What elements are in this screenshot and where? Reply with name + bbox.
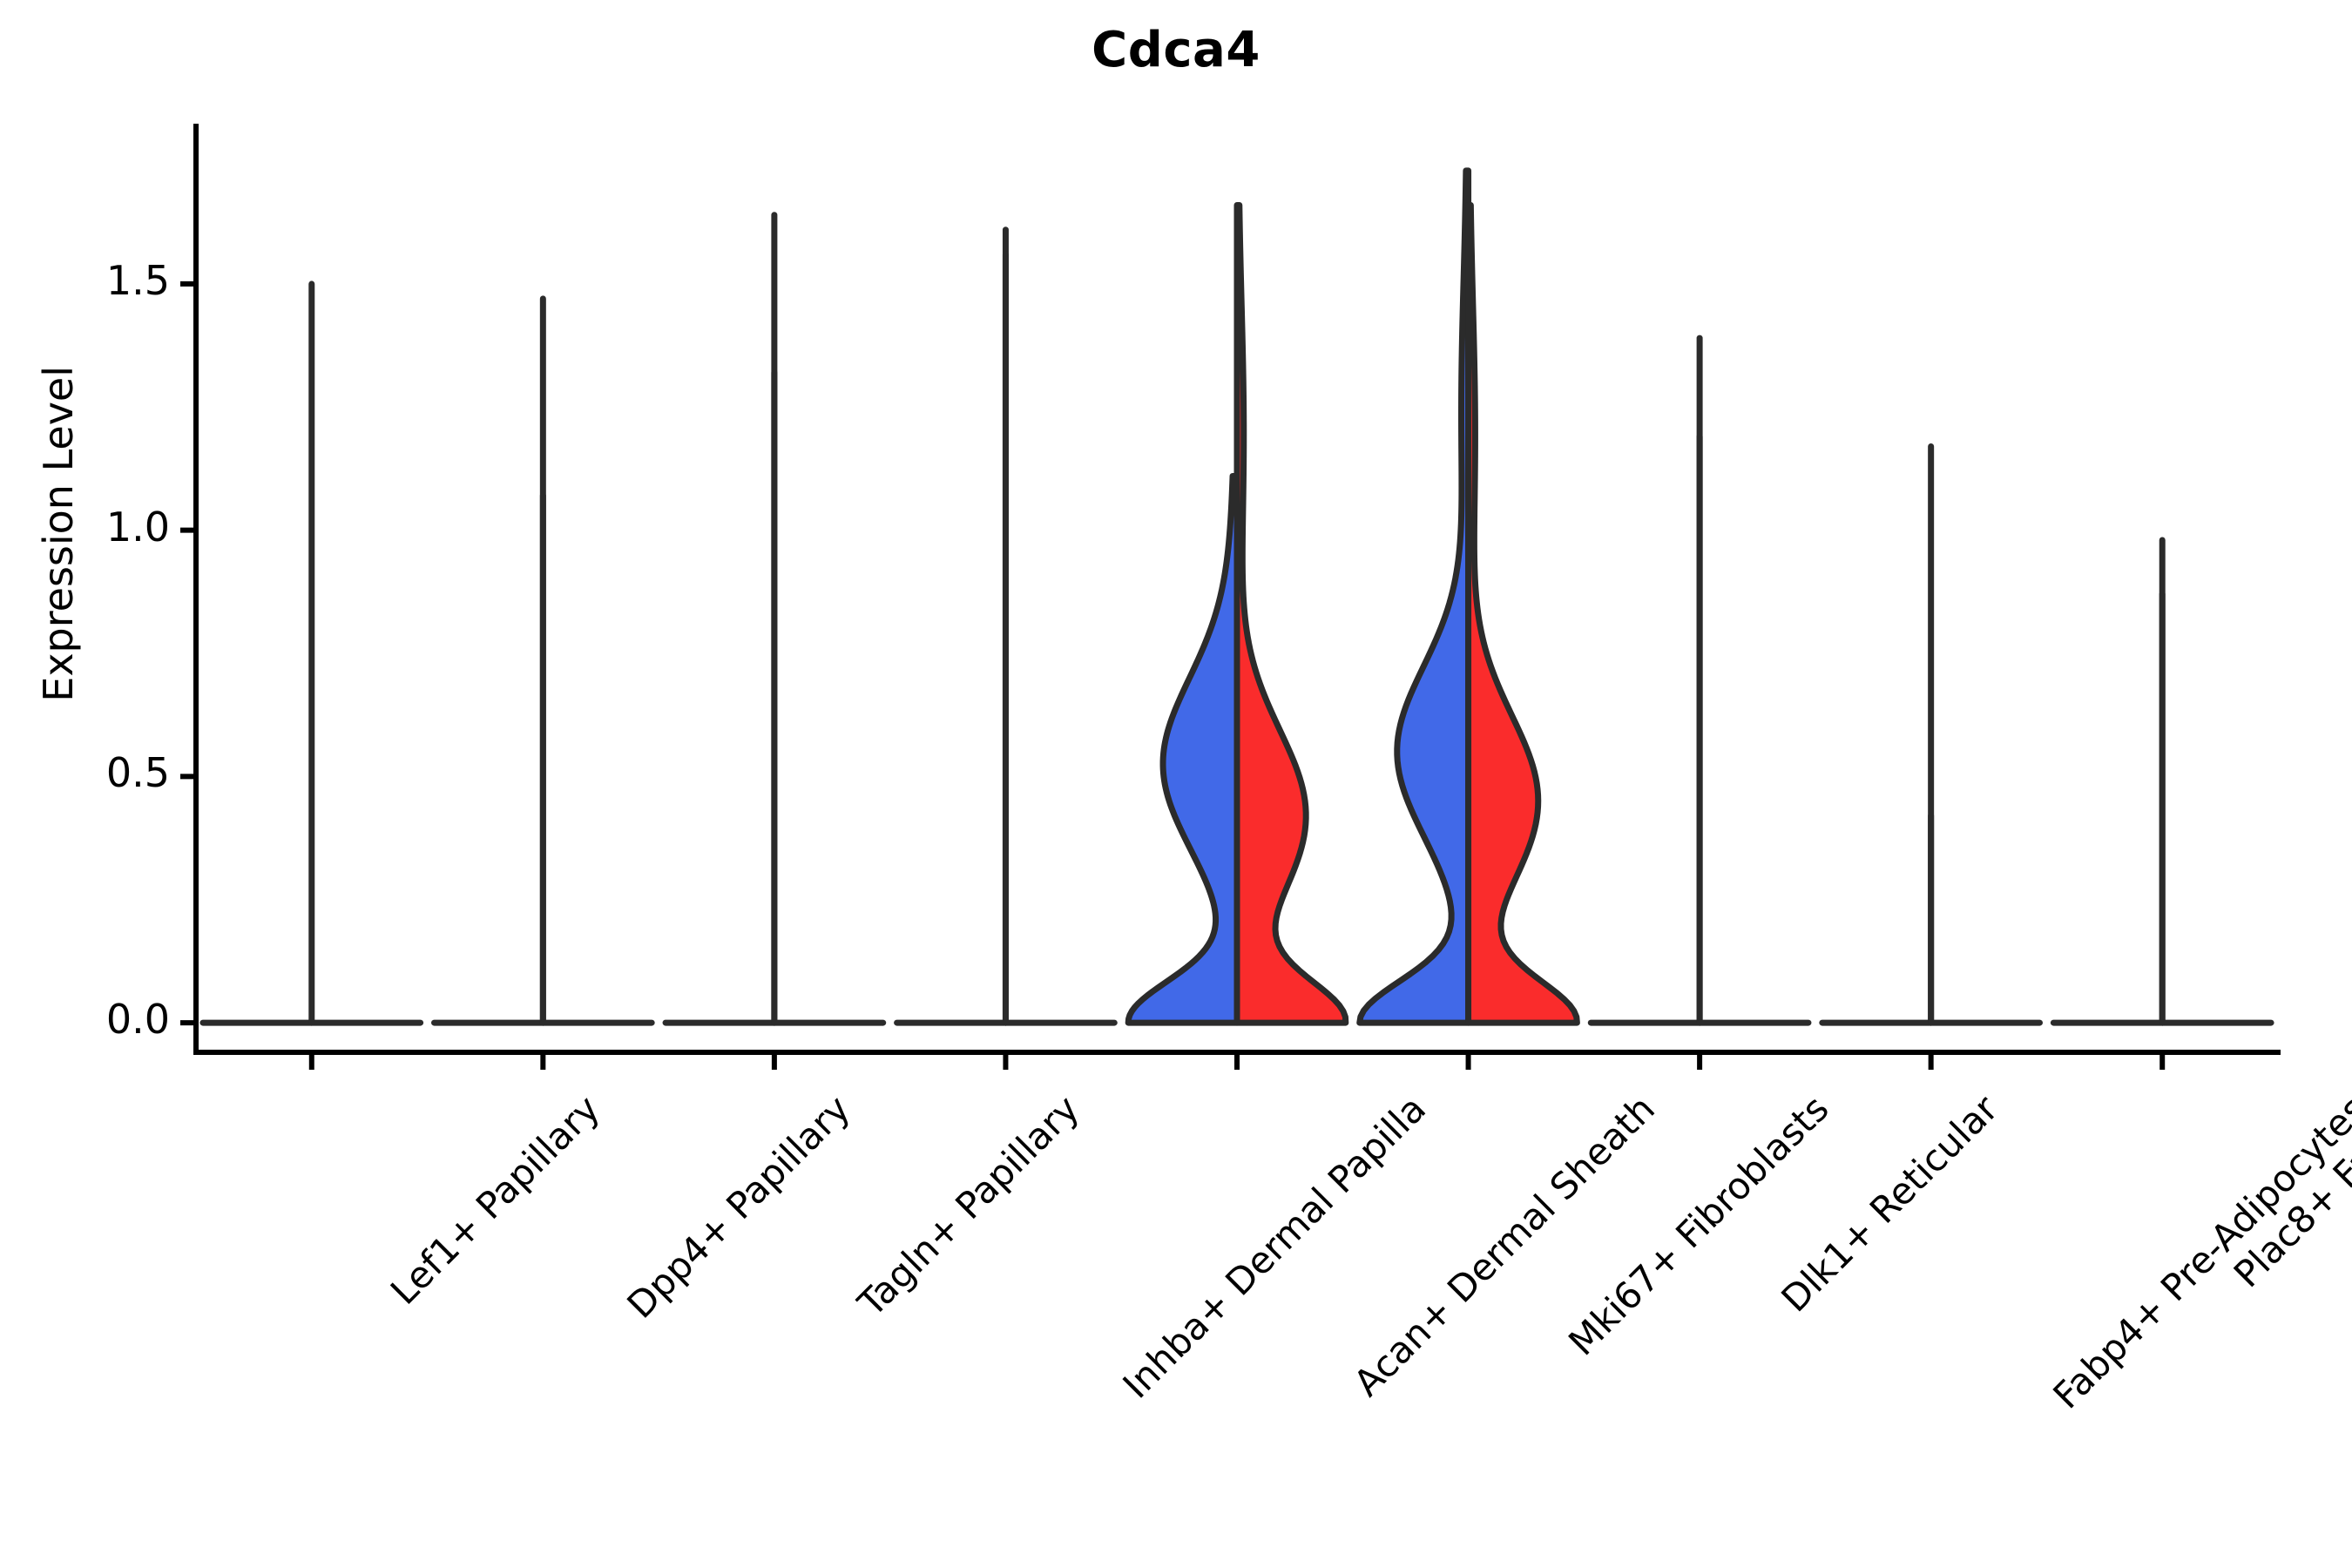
- y-tick-label: 0.5: [106, 749, 170, 796]
- violin-plot-figure: Cdca4 0.00.51.01.5Expression LevelLef1+ …: [0, 0, 2352, 1568]
- violin-group: [203, 171, 2271, 1023]
- y-tick-label: 0.0: [106, 996, 170, 1043]
- violin-blue-5[interactable]: [1360, 171, 1469, 1023]
- y-axis-label: Expression Level: [35, 366, 82, 702]
- violin-blue-4[interactable]: [1128, 476, 1237, 1023]
- violin-red-4[interactable]: [1237, 205, 1346, 1023]
- y-tick-label: 1.0: [106, 504, 170, 551]
- violin-red-5[interactable]: [1469, 205, 1578, 1023]
- y-tick-label: 1.5: [106, 257, 170, 304]
